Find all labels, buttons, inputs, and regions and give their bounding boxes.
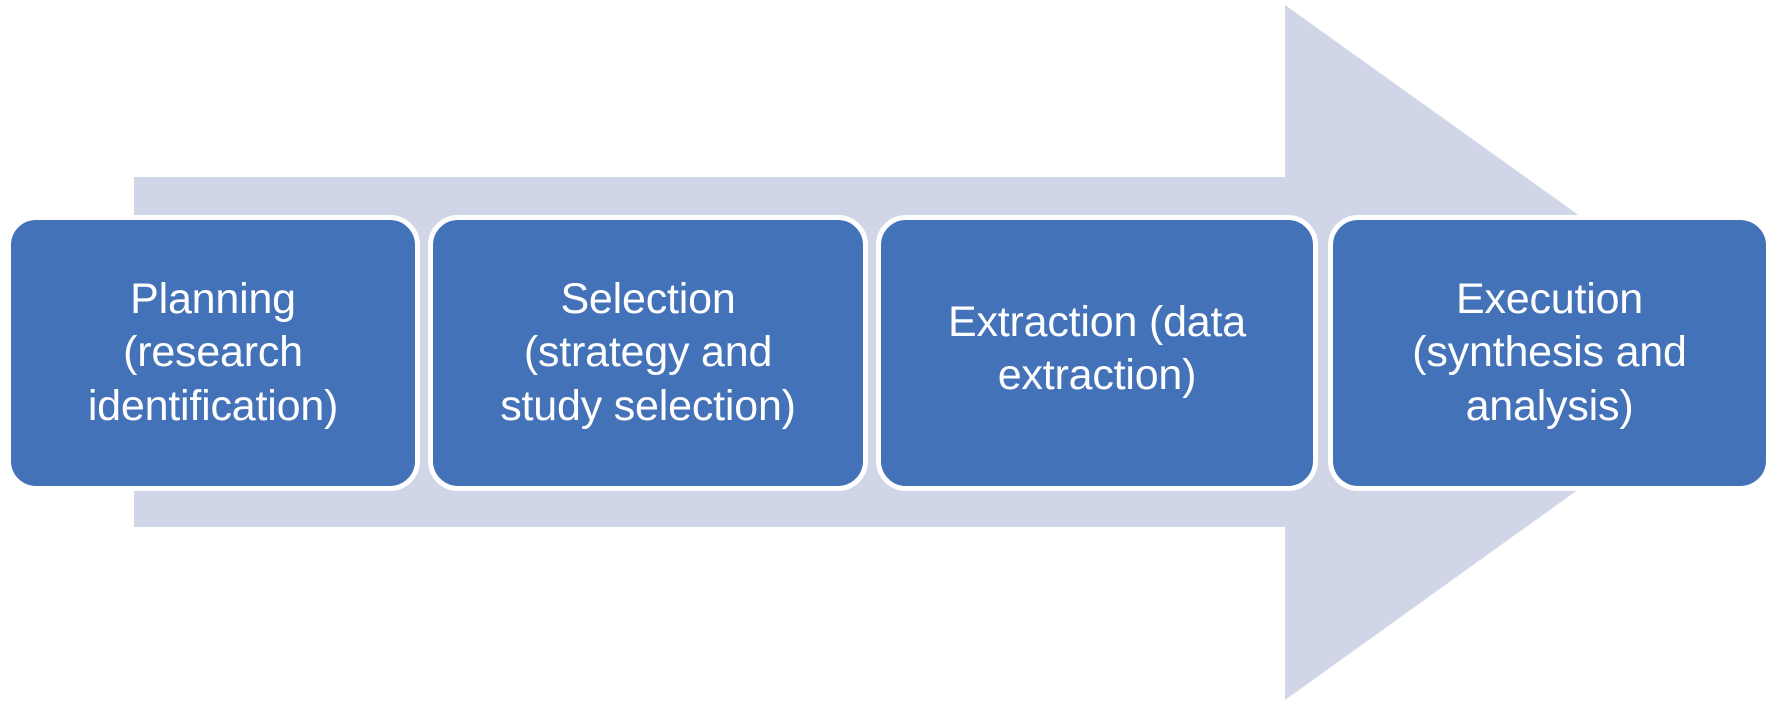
stage-box-planning[interactable]: Planning (research identification) (6, 215, 420, 491)
stage-label-selection: Selection (strategy and study selection) (500, 273, 796, 433)
diagram-canvas: Planning (research identification) Selec… (0, 0, 1770, 706)
stage-box-selection[interactable]: Selection (strategy and study selection) (428, 215, 868, 491)
stage-box-extraction[interactable]: Extraction (data extraction) (876, 215, 1318, 491)
stage-label-execution: Execution (synthesis and analysis) (1412, 273, 1686, 433)
stage-box-row: Planning (research identification) Selec… (0, 215, 1770, 491)
stage-box-execution[interactable]: Execution (synthesis and analysis) (1328, 215, 1770, 491)
stage-label-planning: Planning (research identification) (88, 273, 338, 433)
stage-label-extraction: Extraction (data extraction) (948, 296, 1246, 403)
